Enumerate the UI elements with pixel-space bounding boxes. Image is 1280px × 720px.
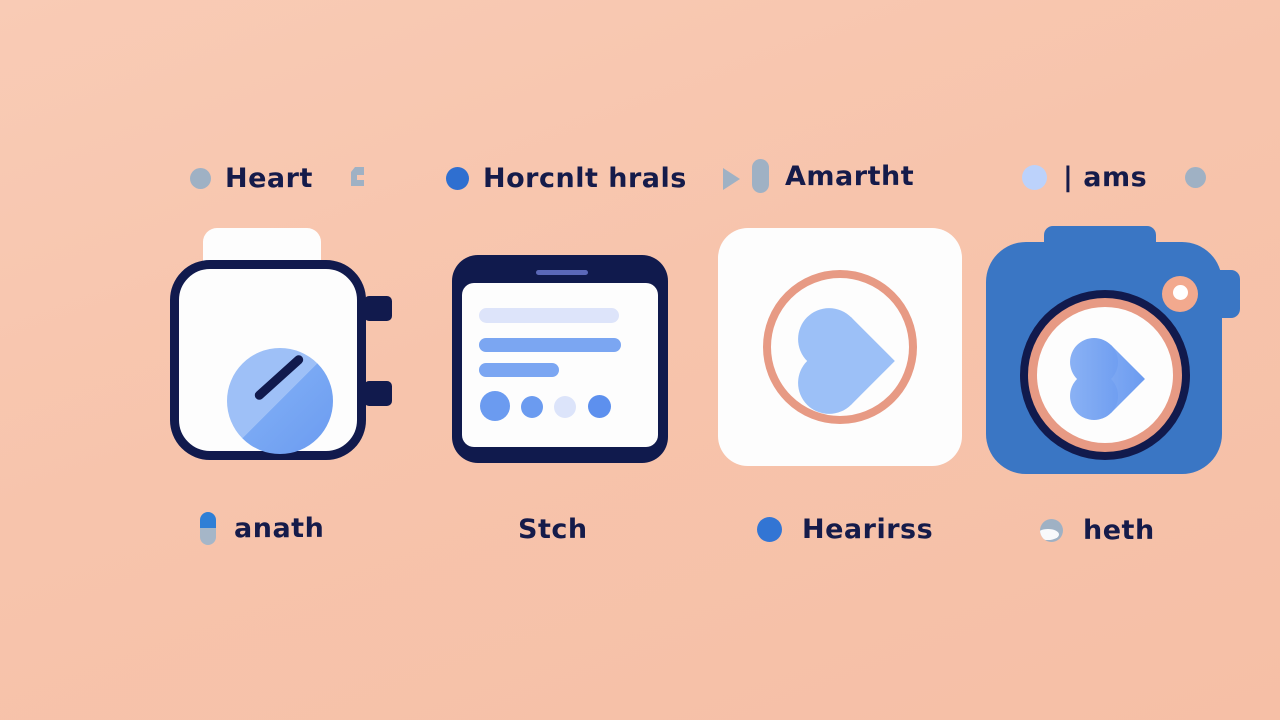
bottom-label-anath-text: anath (234, 513, 324, 544)
screen-dot-4[interactable] (588, 395, 611, 418)
top-label-heart-text: Heart (225, 163, 313, 194)
watch-case (170, 260, 366, 460)
phone-illustration (452, 255, 672, 465)
content-bar-1 (479, 308, 619, 323)
camera-body (986, 242, 1222, 474)
blue-circle-icon-bottom (757, 517, 782, 542)
top-label-ams-text: | ams (1063, 162, 1147, 193)
split-pill-icon (200, 512, 216, 545)
camera-lens-ring (1020, 290, 1190, 460)
top-label-amartht-text: Amartht (785, 161, 914, 192)
screen-dot-2[interactable] (521, 396, 543, 418)
phone-speaker-icon (536, 270, 588, 275)
bottom-label-hearirss: Hearirss (757, 514, 933, 545)
grey-circle-icon (190, 168, 211, 189)
grey-pill-icon (752, 159, 769, 193)
top-label-heart: Heart (190, 163, 368, 194)
top-label-horcnlt: Horcnlt hrals (446, 163, 740, 194)
light-blue-circle-icon (1022, 165, 1047, 190)
illustration-canvas: Heart Horcnlt hrals Amartht | ams (0, 0, 1280, 720)
top-label-amartht: Amartht (752, 159, 914, 193)
content-bar-3 (479, 363, 559, 377)
play-triangle-icon (723, 168, 740, 190)
camera-lens-face (1037, 307, 1173, 443)
moon-circle-icon (1040, 519, 1063, 542)
camera-illustration (986, 226, 1256, 476)
smartwatch-illustration (168, 228, 398, 468)
bottom-label-hearirss-text: Hearirss (802, 514, 933, 545)
bracket-glyph-icon (351, 167, 368, 191)
watch-side-button-bottom[interactable] (364, 381, 392, 406)
camera-shutter-button[interactable] (1162, 276, 1198, 312)
watch-side-button-top[interactable] (364, 296, 392, 321)
screen-dot-1[interactable] (480, 391, 510, 421)
heart-card-surface (718, 228, 962, 466)
watch-dial (227, 348, 333, 454)
bottom-label-anath: anath (200, 512, 324, 545)
bottom-label-heth: heth (1040, 515, 1155, 546)
grey-circle-icon-right (1185, 167, 1206, 188)
heart-card-illustration (718, 228, 964, 468)
bottom-label-stch: Stch (518, 514, 588, 545)
blue-circle-icon (446, 167, 469, 190)
top-label-horcnlt-text: Horcnlt hrals (483, 163, 687, 194)
camera-coral-ring (1028, 298, 1182, 452)
bottom-label-heth-text: heth (1083, 515, 1155, 546)
phone-screen[interactable] (462, 283, 658, 447)
bottom-label-stch-text: Stch (518, 514, 588, 545)
heart-icon-camera (1077, 345, 1145, 413)
top-label-ams: | ams (1022, 162, 1206, 193)
screen-dot-3[interactable] (554, 396, 576, 418)
phone-bezel (452, 255, 668, 463)
content-bar-2 (479, 338, 621, 352)
